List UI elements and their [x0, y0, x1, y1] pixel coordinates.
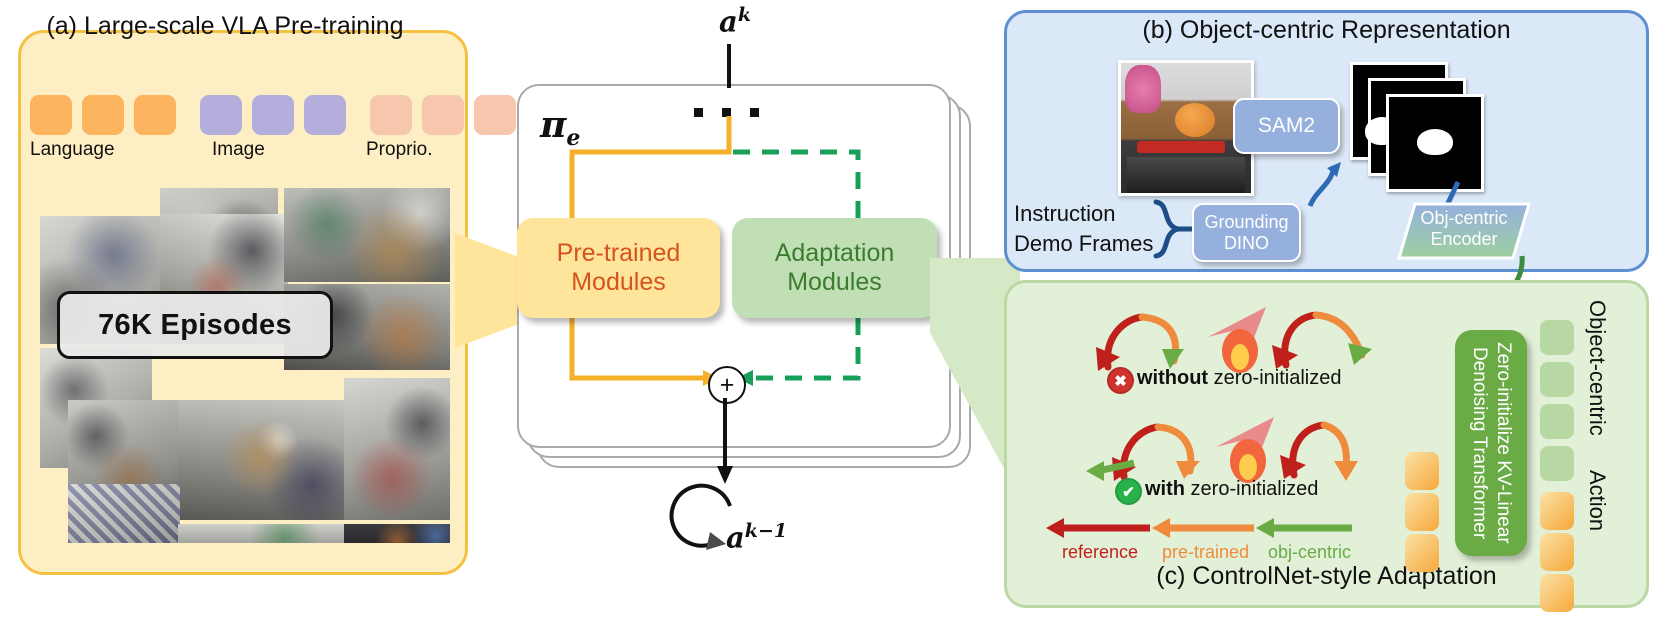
object-centric-token [1540, 362, 1574, 397]
action-token [1540, 574, 1574, 612]
instruction-label: Instruction [1014, 201, 1116, 227]
grounding-dino-label: GroundingDINO [1204, 212, 1288, 253]
language-caption: Language [30, 139, 115, 161]
legend-objcentric-label: obj-centric [1268, 542, 1351, 563]
action-output-sup: k−1 [745, 520, 787, 542]
language-token [82, 95, 124, 135]
language-token [30, 95, 72, 135]
image-token [200, 95, 242, 135]
action-output-base: a [726, 521, 745, 555]
action-token [1405, 493, 1439, 531]
object-centric-token [1540, 320, 1574, 355]
without-zero-init-arrows [1090, 295, 1380, 373]
with-zero-initialized-label: with zero-initialized [1145, 478, 1318, 501]
action-input-label: ak [690, 4, 780, 39]
proprio-token [370, 95, 412, 135]
image-token [304, 95, 346, 135]
object-centric-token [1540, 404, 1574, 439]
demo-frames-label: Demo Frames [1014, 231, 1153, 257]
action-side-label: Action [1584, 470, 1610, 531]
action-input-base: a [719, 5, 738, 39]
proprio-token [422, 95, 464, 135]
with-zero-init-arrows [1098, 405, 1388, 483]
legend-arrows [1042, 516, 1352, 540]
action-token [1540, 533, 1574, 571]
episodes-badge: 76K Episodes [57, 291, 333, 359]
without-zero-initialized-label: without zero-initialized [1137, 367, 1341, 390]
obj-centric-encoder-label: Obj-centricEncoder [1399, 208, 1529, 250]
cross-icon: ✖ [1107, 367, 1134, 394]
token-row: Language Image Proprio. [30, 95, 430, 137]
panel-b-title: (b) Object-centric Representation [1004, 16, 1649, 45]
image-token [252, 95, 294, 135]
grounding-dino-box[interactable]: GroundingDINO [1192, 203, 1301, 262]
action-token [1405, 534, 1439, 572]
adaptation-modules-box[interactable]: AdaptationModules [732, 218, 937, 318]
language-token [134, 95, 176, 135]
check-icon: ✔ [1115, 478, 1142, 505]
zero-initialize-denoising-transformer[interactable]: Zero-initialize KV-Linear Denoising Tran… [1455, 330, 1527, 556]
adaptation-modules-label: AdaptationModules [775, 239, 895, 298]
segmentation-mask [1386, 94, 1484, 192]
transformer-label: Zero-initialize KV-Linear Denoising Tran… [1467, 342, 1515, 544]
pretrained-modules-box[interactable]: Pre-trainedModules [517, 218, 720, 318]
legend-pretrained-label: pre-trained [1162, 542, 1249, 563]
action-token [1405, 452, 1439, 490]
object-centric-side-label: Object-centric [1584, 300, 1610, 436]
pretrained-modules-label: Pre-trainedModules [557, 239, 681, 298]
image-caption: Image [212, 139, 265, 161]
input-brace-icon [1152, 198, 1194, 260]
action-input-line [717, 44, 741, 88]
action-token [1540, 492, 1574, 530]
proprio-caption: Proprio. [366, 139, 433, 161]
sam2-box[interactable]: SAM2 [1233, 98, 1340, 154]
legend-reference-label: reference [1062, 542, 1138, 563]
action-input-sup: k [738, 4, 751, 26]
episode-image-mosaic [40, 188, 450, 543]
object-centric-token [1540, 446, 1574, 481]
action-output-label: ak−1 [726, 520, 846, 555]
panel-a-title: (a) Large-scale VLA Pre-training [0, 12, 450, 41]
